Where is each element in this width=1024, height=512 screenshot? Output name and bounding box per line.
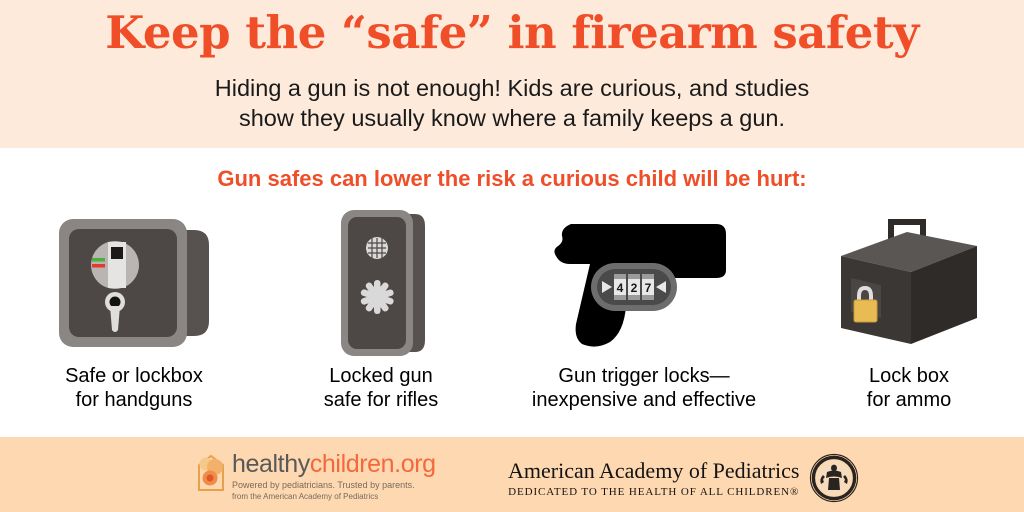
healthychildren-logo[interactable]: healthychildren.org Powered by pediatric… — [196, 451, 436, 502]
header-band: Keep the “safe” in firearm safety Hiding… — [0, 0, 1024, 148]
caption-line-2: for ammo — [867, 388, 951, 412]
wordmark-part-healthy: healthy — [232, 450, 310, 478]
safe-lockbox-art — [44, 208, 224, 358]
combination-digit-2: 2 — [631, 281, 638, 295]
healthychildren-wordmark: healthychildren.org — [232, 451, 436, 478]
caption-line-1: Safe or lockbox — [65, 364, 203, 388]
healthychildren-tagline-2: from the American Academy of Pediatrics — [232, 491, 436, 502]
subtitle-line-2: show they usually know where a family ke… — [0, 103, 1024, 133]
locked-rifle-safe-icon — [311, 208, 451, 358]
caption-line-1: Locked gun — [324, 364, 438, 388]
main-content: Gun safes can lower the risk a curious c… — [0, 148, 1024, 437]
gun-trigger-lock-icon: 4 2 7 — [534, 208, 754, 358]
list-item: Locked gun safe for rifles — [268, 208, 494, 438]
caption-line-2: for handguns — [65, 388, 203, 412]
ammo-lock-box-icon — [819, 208, 999, 358]
caption-line-2: safe for rifles — [324, 388, 438, 412]
infographic-root: Keep the “safe” in firearm safety Hiding… — [0, 0, 1024, 512]
section-title: Gun safes can lower the risk a curious c… — [0, 166, 1024, 192]
page-subtitle: Hiding a gun is not enough! Kids are cur… — [0, 73, 1024, 133]
gun-trigger-lock-art: 4 2 7 — [534, 208, 754, 358]
list-item-caption: Lock box for ammo — [867, 364, 951, 412]
aap-seal-icon — [809, 453, 859, 503]
caption-line-2: inexpensive and effective — [532, 388, 756, 412]
aap-name: American Academy of Pediatrics — [508, 458, 799, 483]
caption-line-1: Gun trigger locks— — [532, 364, 756, 388]
safe-lockbox-icon — [44, 208, 224, 358]
ammo-lock-box-art — [819, 208, 999, 358]
aap-tagline: DEDICATED TO THE HEALTH OF ALL CHILDREN® — [508, 485, 799, 499]
aap-logo[interactable]: American Academy of Pediatrics DEDICATED… — [508, 453, 859, 503]
healthychildren-mark-icon — [196, 451, 226, 493]
list-item: 4 2 7 Gun trigger locks— inexpensive and… — [494, 208, 794, 438]
combination-digit-3: 7 — [645, 281, 652, 295]
caption-line-1: Lock box — [867, 364, 951, 388]
subtitle-line-1: Hiding a gun is not enough! Kids are cur… — [0, 73, 1024, 103]
combination-digit-1: 4 — [617, 281, 624, 295]
list-item: Lock box for ammo — [794, 208, 1024, 438]
rifle-safe-art — [311, 208, 451, 358]
safety-options-list: Safe or lockbox for handguns — [0, 208, 1024, 438]
wordmark-part-children: children.org — [310, 450, 436, 478]
healthychildren-tagline-1: Powered by pediatricians. Trusted by par… — [232, 479, 436, 491]
aap-text: American Academy of Pediatrics DEDICATED… — [508, 458, 799, 499]
list-item: Safe or lockbox for handguns — [0, 208, 268, 438]
list-item-caption: Locked gun safe for rifles — [324, 364, 438, 412]
list-item-caption: Gun trigger locks— inexpensive and effec… — [532, 364, 756, 412]
page-title: Keep the “safe” in firearm safety — [0, 9, 1024, 56]
healthychildren-text: healthychildren.org Powered by pediatric… — [232, 451, 436, 502]
list-item-caption: Safe or lockbox for handguns — [65, 364, 203, 412]
